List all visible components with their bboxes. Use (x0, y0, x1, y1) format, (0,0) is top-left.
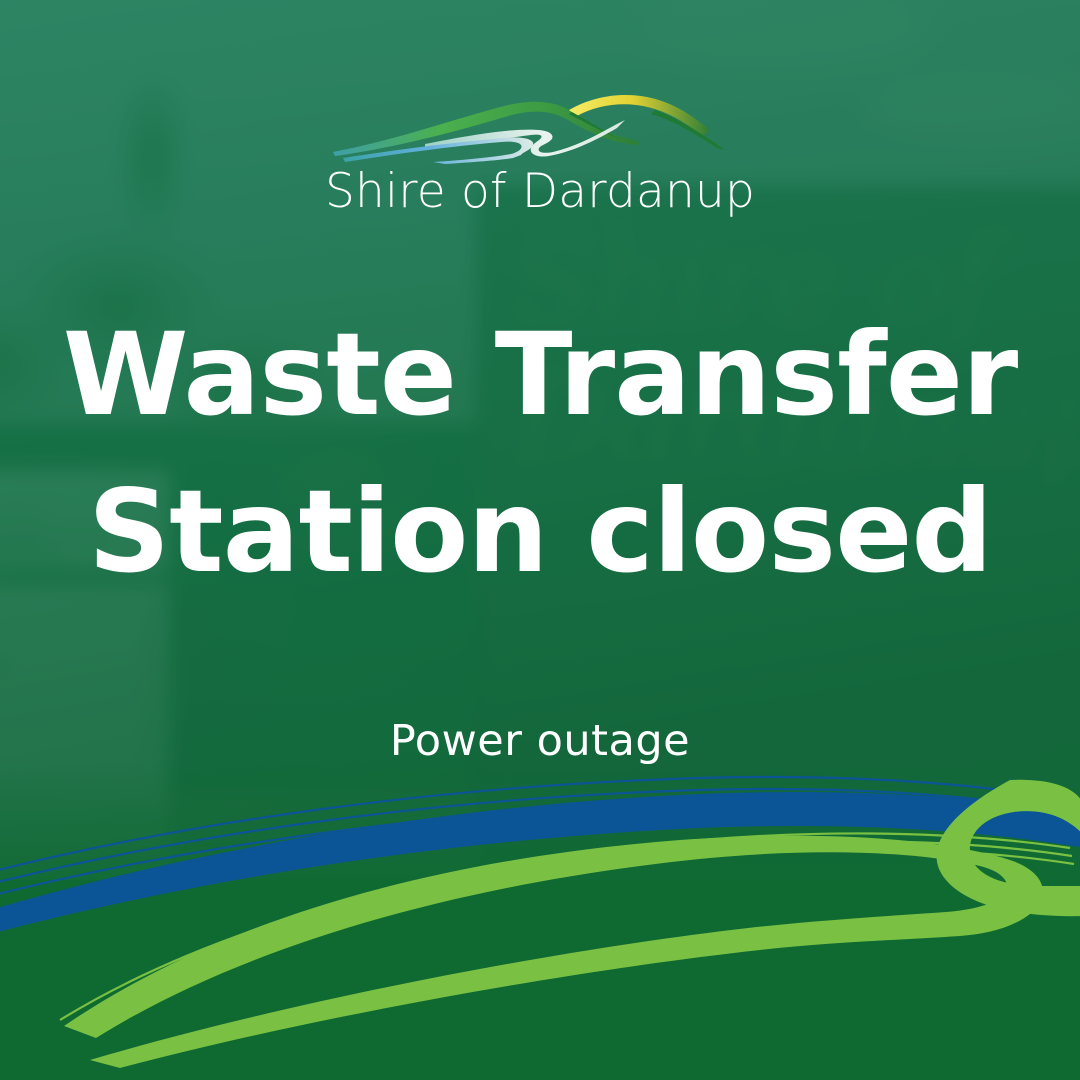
social-announcement-card: Shire of Dardanup Shire of Dardanup WAST… (0, 0, 1080, 1080)
headline-line-2: Station closed (50, 453, 1030, 610)
brand-swoosh-graphic (0, 720, 1080, 1080)
headline-line-1: Waste Transfer (50, 296, 1030, 453)
brand-wordmark: Shire of Dardanup (0, 164, 1080, 219)
page-title: Waste Transfer Station closed (50, 296, 1030, 611)
logo-hill-back (333, 102, 641, 156)
brand-logo: Shire of Dardanup (0, 88, 1080, 219)
hills-and-river-logo-mark (325, 88, 755, 168)
